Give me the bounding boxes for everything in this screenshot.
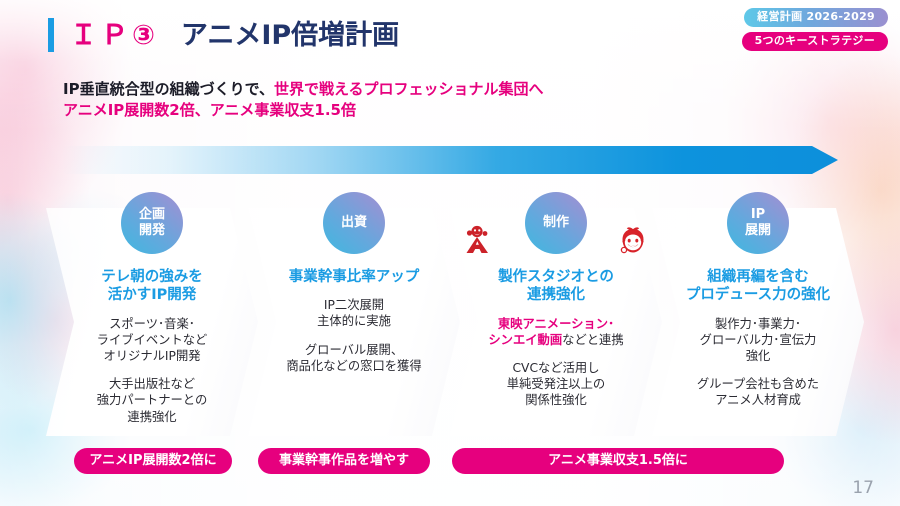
column-planning-development: 企画 開発 テレ朝の強みを 活かすIP開発 スポーツ･音楽･ ライブイベントなど… <box>46 192 258 425</box>
badge-management-plan: 経営計画 2026-2029 <box>744 8 888 27</box>
column-1-body-2: 大手出版社など 強力パートナーとの 連携強化 <box>46 376 258 425</box>
toei-animation-logo-icon <box>464 224 504 258</box>
header-badges: 経営計画 2026-2029 5つのキーストラテジー <box>742 8 888 51</box>
stage-circle-investment: 出資 <box>323 192 385 254</box>
column-3-body-1-plain: などと連携 <box>562 333 624 347</box>
badge-key-strategy: 5つのキーストラテジー <box>742 32 888 51</box>
stage-circle-ip-expansion: IP 展開 <box>727 192 789 254</box>
column-4-body-1: 製作力･事業力･ グローバル力･宣伝力 強化 <box>652 316 864 365</box>
column-investment: 出資 事業幹事比率アップ IP二次展開 主体的に実施 グローバル展開、 商品化な… <box>248 192 460 374</box>
column-3-body-1: 東映アニメーション･ シンエイ動画などと連携 <box>450 316 662 348</box>
column-ip-expansion: IP 展開 組織再編を含む プロデュース力の強化 製作力･事業力･ グローバル力… <box>652 192 864 409</box>
lead-paragraph: IP垂直統合型の組織づくりで、世界で戦えるプロフェッショナル集団へ アニメIP展… <box>63 79 544 122</box>
column-1-heading: テレ朝の強みを 活かすIP開発 <box>46 268 258 305</box>
lead-line-1: IP垂直統合型の組織づくりで、世界で戦えるプロフェッショナル集団へ <box>63 79 544 100</box>
stage-circle-ip-expansion-line1: IP <box>751 207 765 223</box>
column-production: 制作 <box>450 192 662 409</box>
lead-line-1-pink: 世界で戦えるプロフェッショナル集団へ <box>274 80 544 98</box>
stage-circle-planning-line1: 企画 <box>139 207 165 223</box>
lead-line-2: アニメIP展開数2倍、アニメ事業収支1.5倍 <box>63 100 544 121</box>
stage-circle-investment-line1: 出資 <box>341 215 367 231</box>
column-2-body-1: IP二次展開 主体的に実施 <box>248 297 460 329</box>
column-4-heading: 組織再編を含む プロデュース力の強化 <box>652 268 864 305</box>
column-3-heading: 製作スタジオとの 連携強化 <box>450 268 662 305</box>
stage-circle-production-line1: 制作 <box>543 215 569 231</box>
column-4-body-2: グループ会社も含めた アニメ人材育成 <box>652 376 864 408</box>
goal-pill-1: アニメIP展開数2倍に <box>74 448 232 474</box>
stage-circle-production: 制作 <box>525 192 587 254</box>
goal-pill-3: アニメ事業収支1.5倍に <box>452 448 784 474</box>
lead-line-1-dark: IP垂直統合型の組織づくりで、 <box>63 80 274 98</box>
section-banner-arrow <box>62 146 838 174</box>
shinei-animation-logo-icon <box>616 226 650 262</box>
stage-circle-ip-expansion-line2: 展開 <box>745 223 771 239</box>
column-2-heading: 事業幹事比率アップ <box>248 268 460 286</box>
slide-root: 経営計画 2026-2029 5つのキーストラテジー ＩＰ③ アニメIP倍増計画… <box>0 0 900 506</box>
column-2-body-2: グローバル展開、 商品化などの窓口を獲得 <box>248 342 460 374</box>
column-3-body-2: CVCなど活用し 単純受発注以上の 関係性強化 <box>450 360 662 409</box>
page-number: 17 <box>852 478 874 498</box>
column-1-body-1: スポーツ･音楽･ ライブイベントなど オリジナルIP開発 <box>46 316 258 365</box>
stage-circle-planning-line2: 開発 <box>139 223 165 239</box>
goal-pill-2: 事業幹事作品を増やす <box>258 448 430 474</box>
stage-circle-planning: 企画 開発 <box>121 192 183 254</box>
